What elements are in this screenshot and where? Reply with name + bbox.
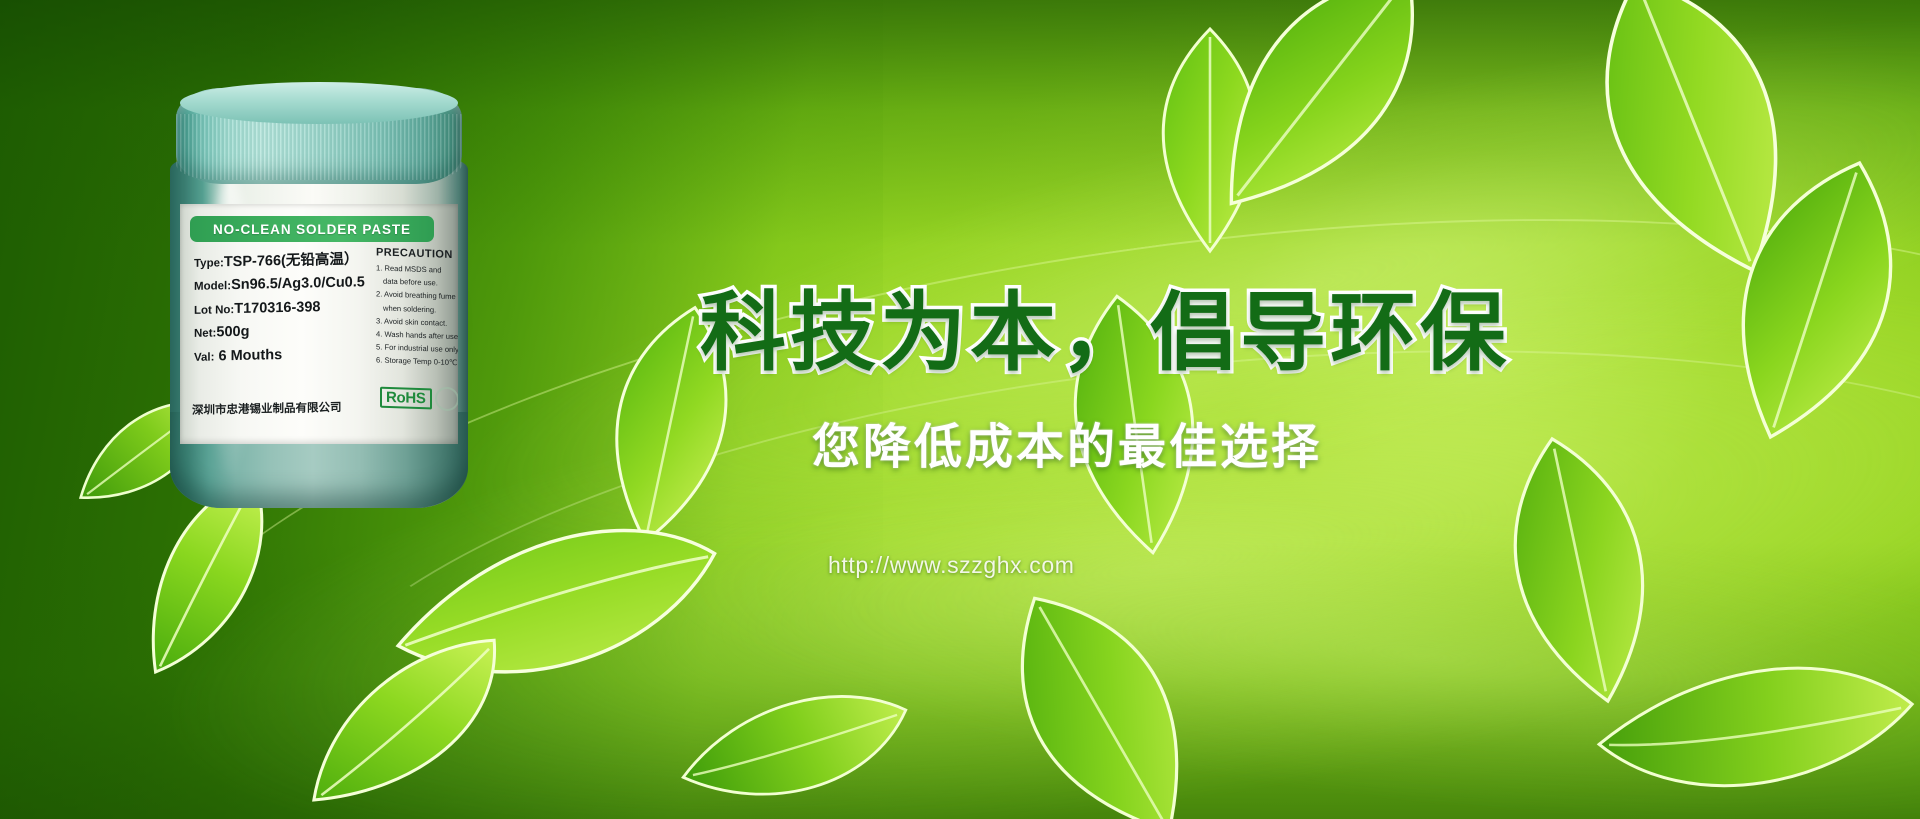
page-subtitle: 您降低成本的最佳选择 <box>812 407 1600 477</box>
page-title: 科技为本，倡导环保 <box>700 262 1600 387</box>
precaution-number: 6. <box>376 356 382 365</box>
precaution-number: 2. <box>376 290 382 299</box>
precaution-item: 6. Storage Temp 0-10℃ <box>376 354 458 371</box>
product-label: NO-CLEAN SOLDER PASTE Type:TSP-766(无铅高温）… <box>180 204 458 444</box>
label-row-value: 6 Mouths <box>214 347 282 364</box>
background-bottom-shade <box>0 541 1920 819</box>
precaution-number: 4. <box>376 329 382 338</box>
precaution-text: Wash hands after use. <box>384 330 458 342</box>
precaution-item: 1. Read MSDS and data before use. <box>376 261 458 291</box>
precaution-number: 3. <box>376 316 382 325</box>
label-row-key: Lot No: <box>194 304 234 317</box>
label-spec-list: Type:TSP-766(无铅高温） Model:Sn96.5/Ag3.0/Cu… <box>194 250 374 367</box>
label-row-key: Val: <box>194 351 214 363</box>
rohs-label: RoHS <box>380 386 432 409</box>
promo-banner: NO-CLEAN SOLDER PASTE Type:TSP-766(无铅高温）… <box>0 0 1920 819</box>
precaution-item: 2. Avoid breathing fume when soldering. <box>376 288 458 318</box>
precaution-text: For industrial use only. <box>384 343 458 355</box>
recycle-icon <box>435 387 458 412</box>
precautions-title: PRECAUTION <box>376 246 458 261</box>
precaution-number: 1. <box>376 263 382 272</box>
label-precautions: PRECAUTION 1. Read MSDS and data before … <box>376 246 458 370</box>
label-row: Val: 6 Mouths <box>194 342 374 369</box>
label-row-value: Sn96.5/Ag3.0/Cu0.5 <box>231 275 365 294</box>
label-row-key: Model: <box>194 281 231 294</box>
label-heading: NO-CLEAN SOLDER PASTE <box>190 216 434 242</box>
precaution-text: Storage Temp 0-10℃ <box>384 356 457 368</box>
label-row-key: Type: <box>194 257 224 270</box>
product-jar: NO-CLEAN SOLDER PASTE Type:TSP-766(无铅高温）… <box>158 88 488 508</box>
rohs-mark: RoHS <box>380 385 458 412</box>
label-row-value: 500g <box>216 324 249 341</box>
label-row-key: Net: <box>194 328 216 340</box>
jar-lid-top <box>180 82 458 124</box>
precaution-text: Read MSDS and <box>384 264 441 275</box>
precaution-number: 5. <box>376 343 382 352</box>
label-row-value: T170316-398 <box>234 299 320 317</box>
precaution-text: Avoid breathing fume <box>384 290 456 302</box>
headline-block: 科技为本，倡导环保 您降低成本的最佳选择 <box>700 262 1600 477</box>
precaution-text: Avoid skin contact. <box>384 316 447 327</box>
label-company-name: 深圳市忠港锡业制品有限公司 <box>192 398 382 418</box>
website-url[interactable]: http://www.szzghx.com <box>828 552 1075 579</box>
label-row-value: TSP-766(无铅高温） <box>224 251 359 270</box>
